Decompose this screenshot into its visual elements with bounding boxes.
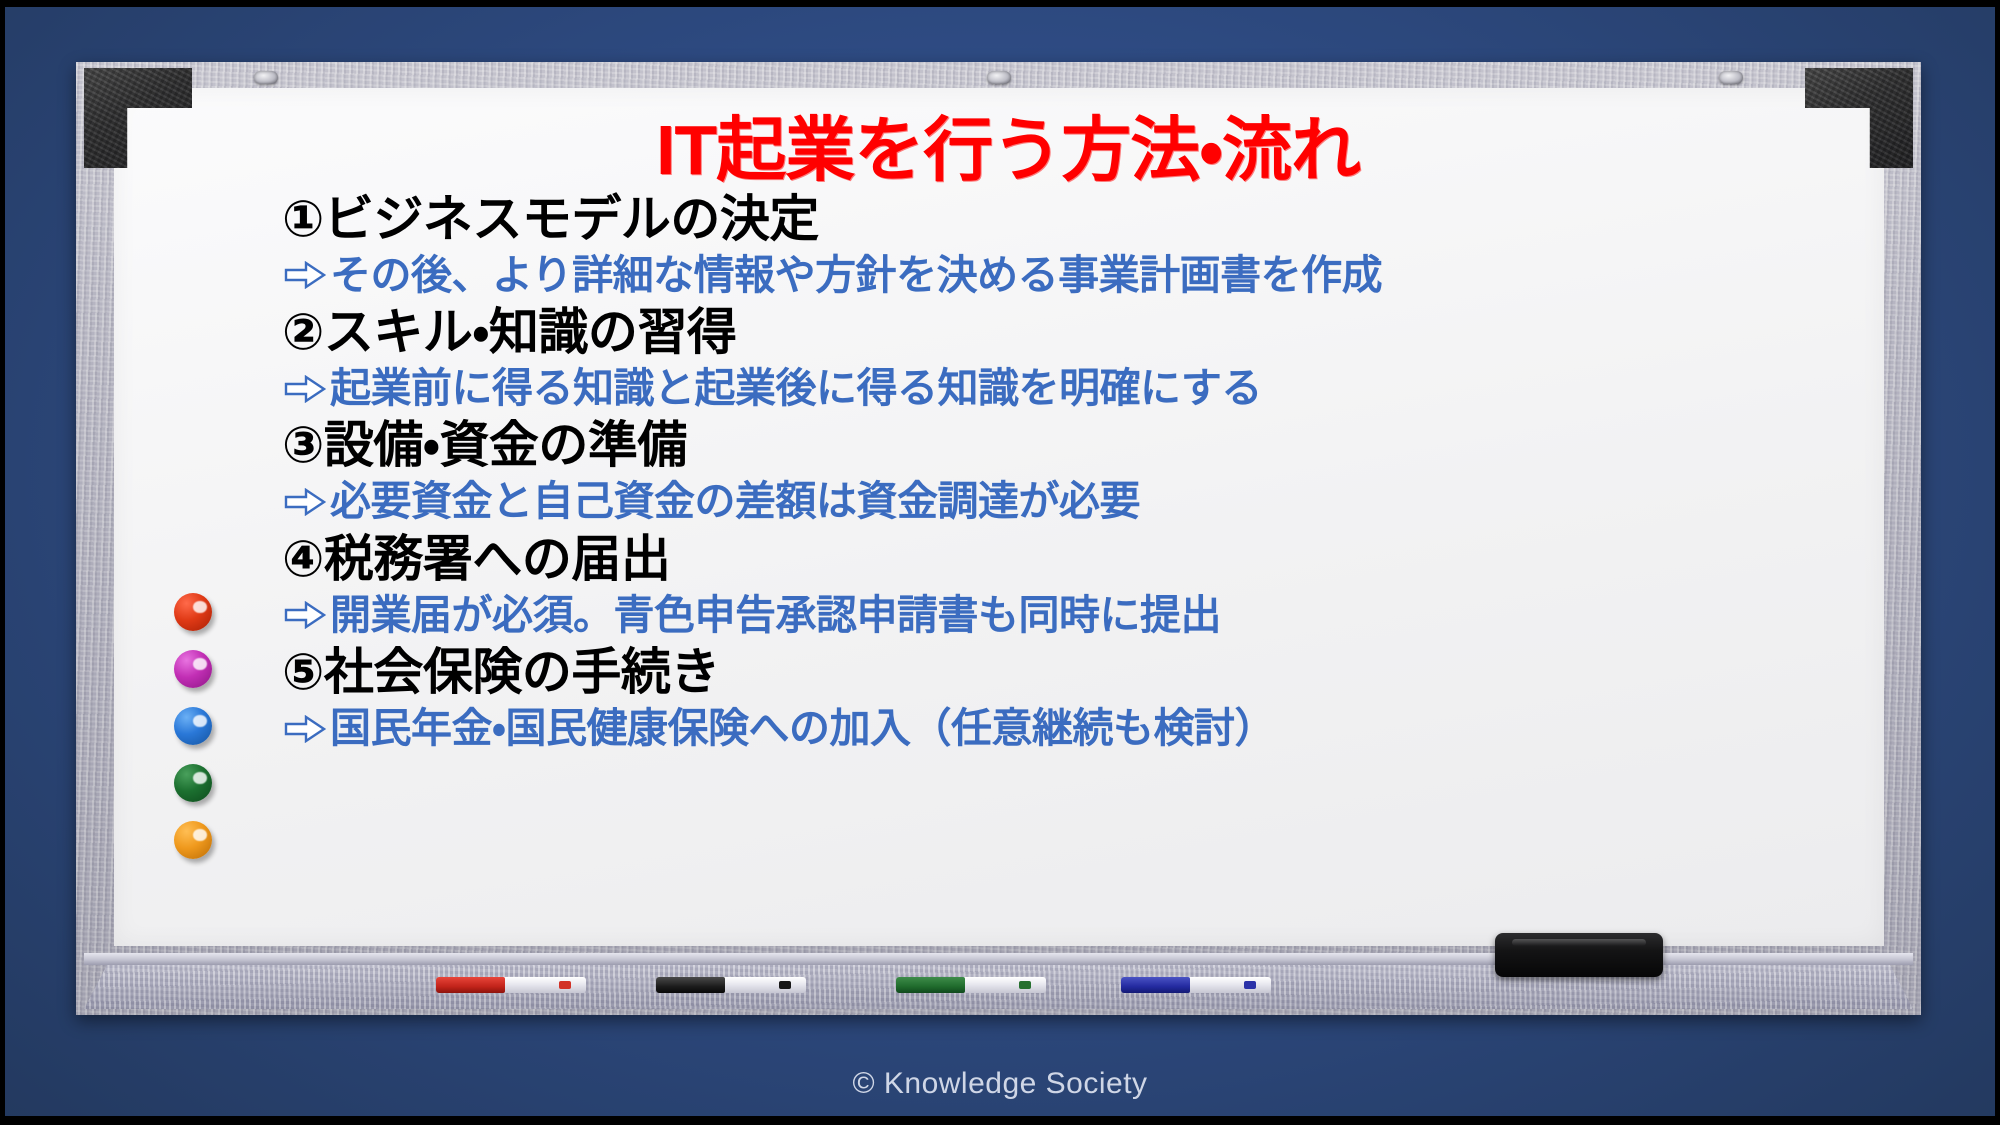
step-item-4: ④税務署への届出 開業届が必須。青色申告承認申請書も同時に提出 [282,529,1854,642]
right-arrow-icon [284,375,326,403]
frame-bolt-left [254,71,278,84]
step-item-2: ②スキル・知識の習得 起業前に得る知識と起業後に得る知識を明確にする [282,302,1854,415]
step-detail-text-2: 起業前に得る知識と起業後に得る知識を明確にする [330,362,1262,415]
slide-edge-bottom [0,1116,2000,1125]
step-item-1: ①ビジネスモデルの決定 その後、より詳細な情報や方針を決める事業計画書を作成 [282,189,1854,302]
step-detail-1: その後、より詳細な情報や方針を決める事業計画書を作成 [284,249,1854,302]
step-detail-text-3: 必要資金と自己資金の差額は資金調達が必要 [330,475,1140,528]
magnet-green[interactable] [174,764,212,802]
magnet-red[interactable] [174,593,212,631]
page-title: IT起業を行う方法・流れ [282,114,1854,187]
whiteboard: IT起業を行う方法・流れ ①ビジネスモデルの決定 その後、より詳細な情報や方針を… [76,62,1921,1015]
slide-content: IT起業を行う方法・流れ ①ビジネスモデルの決定 その後、より詳細な情報や方針を… [114,88,1884,946]
slide-edge-top [0,0,2000,7]
whiteboard-eraser[interactable] [1495,933,1663,977]
magnet-blue[interactable] [174,707,212,745]
step-detail-text-4: 開業届が必須。青色申告承認申請書も同時に提出 [330,589,1221,642]
right-arrow-icon [284,261,326,289]
slide: IT起業を行う方法・流れ ①ビジネスモデルの決定 その後、より詳細な情報や方針を… [0,0,2000,1125]
frame-bolt-center [987,71,1011,84]
step-detail-4: 開業届が必須。青色申告承認申請書も同時に提出 [284,589,1854,642]
step-detail-3: 必要資金と自己資金の差額は資金調達が必要 [284,475,1854,528]
step-detail-5: 国民年金・国民健康保険への加入（任意継続も検討） [284,702,1854,755]
whiteboard-surface: IT起業を行う方法・流れ ①ビジネスモデルの決定 その後、より詳細な情報や方針を… [114,88,1884,946]
right-arrow-icon [284,601,326,629]
footer-copyright: © Knowledge Society [0,1067,2000,1101]
marker-red[interactable] [436,977,586,993]
frame-bolt-right [1719,71,1743,84]
step-heading-4: ④税務署への届出 [282,529,1854,589]
step-detail-text-5: 国民年金・国民健康保険への加入（任意継続も検討） [330,702,1275,755]
step-detail-text-1: その後、より詳細な情報や方針を決める事業計画書を作成 [330,249,1382,302]
marker-blue[interactable] [1121,977,1271,993]
right-arrow-icon [284,488,326,516]
right-arrow-icon [284,715,326,743]
marker-black[interactable] [656,977,806,993]
step-heading-2: ②スキル・知識の習得 [282,302,1854,362]
magnet-purple[interactable] [174,650,212,688]
step-item-3: ③設備・資金の準備 必要資金と自己資金の差額は資金調達が必要 [282,415,1854,528]
step-heading-1: ①ビジネスモデルの決定 [282,189,1854,249]
slide-edge-left [0,0,5,1125]
marker-green[interactable] [896,977,1046,993]
step-detail-2: 起業前に得る知識と起業後に得る知識を明確にする [284,362,1854,415]
slide-edge-right [1995,0,2000,1125]
step-item-5: ⑤社会保険の手続き 国民年金・国民健康保険への加入（任意継続も検討） [282,642,1854,755]
step-heading-5: ⑤社会保険の手続き [282,642,1854,702]
step-heading-3: ③設備・資金の準備 [282,415,1854,475]
magnet-group [174,593,222,878]
magnet-orange[interactable] [174,821,212,859]
